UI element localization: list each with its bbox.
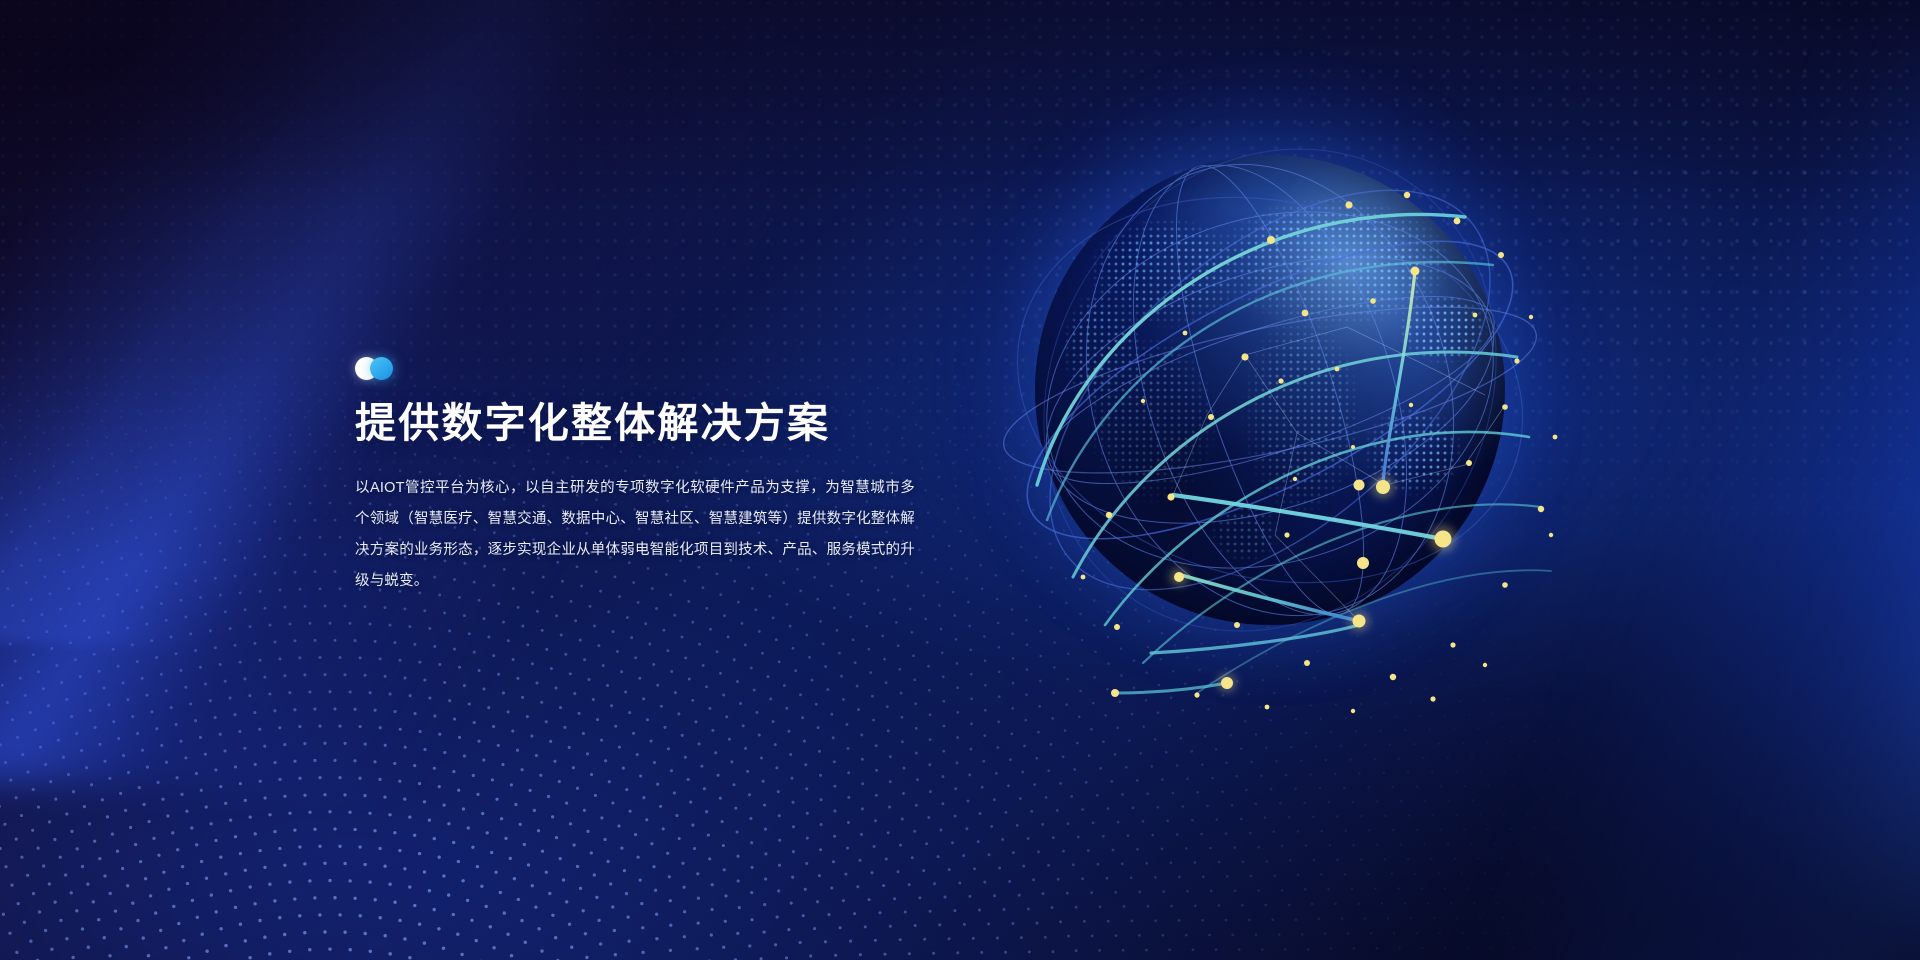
digital-earth-globe <box>1035 155 1505 625</box>
circle-blue-icon <box>370 357 393 380</box>
badge-dots <box>355 355 955 381</box>
globe-network-overlay <box>945 65 1595 715</box>
hero-content: 提供数字化整体解决方案 以AIOT管控平台为核心，以自主研发的专项数字化软硬件产… <box>355 355 955 597</box>
hero-banner: 提供数字化整体解决方案 以AIOT管控平台为核心，以自主研发的专项数字化软硬件产… <box>0 0 1920 960</box>
hero-description: 以AIOT管控平台为核心，以自主研发的专项数字化软硬件产品为支撑，为智慧城市多个… <box>355 473 915 597</box>
page-title: 提供数字化整体解决方案 <box>355 401 955 447</box>
